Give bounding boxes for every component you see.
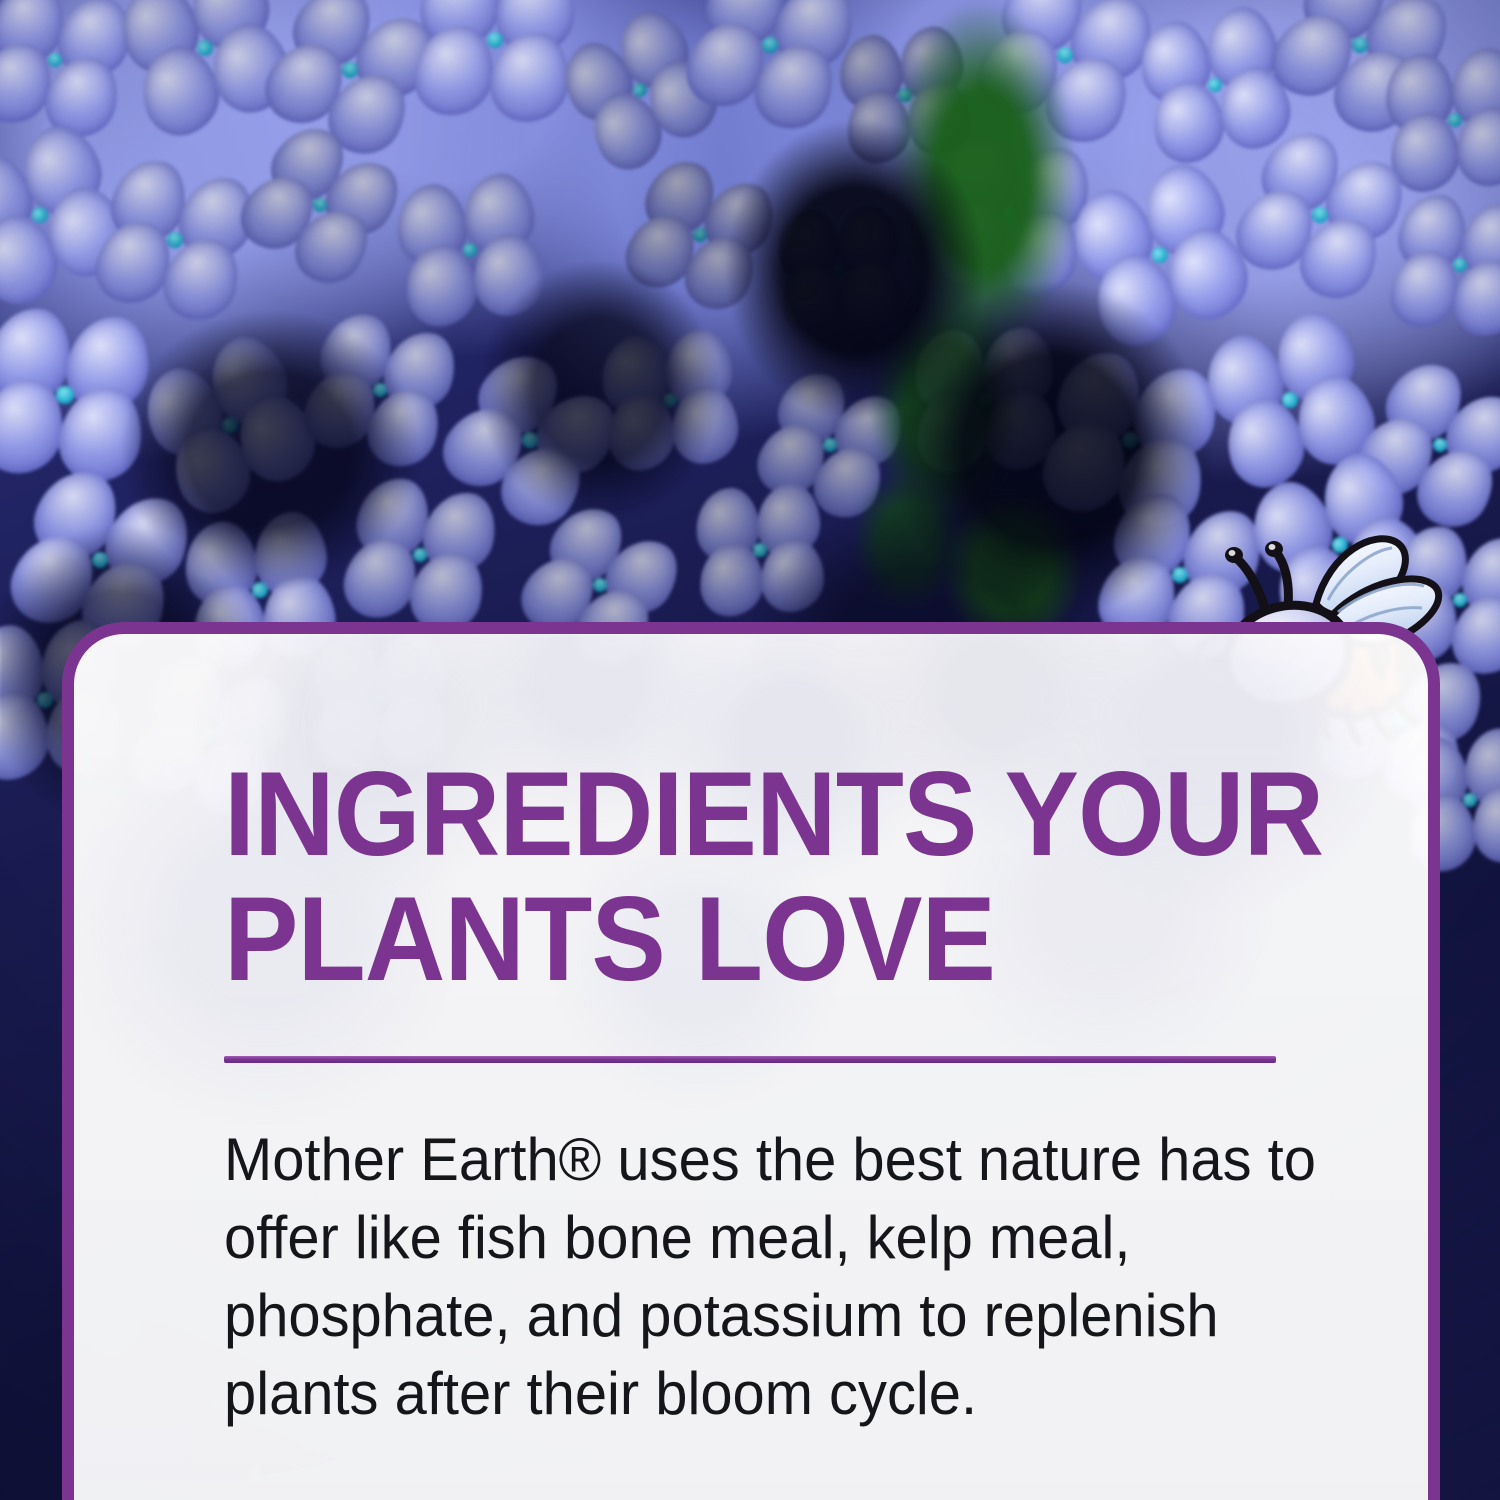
ingredients-card: INGREDIENTS YOUR PLANTS LOVE Mother Eart… (62, 622, 1440, 1500)
page-title: INGREDIENTS YOUR PLANTS LOVE (224, 752, 1344, 1002)
title-divider (224, 1056, 1276, 1063)
product-feature-panel: INGREDIENTS YOUR PLANTS LOVE Mother Eart… (0, 0, 1500, 1500)
ingredients-description: Mother Earth® uses the best nature has t… (224, 1121, 1343, 1433)
